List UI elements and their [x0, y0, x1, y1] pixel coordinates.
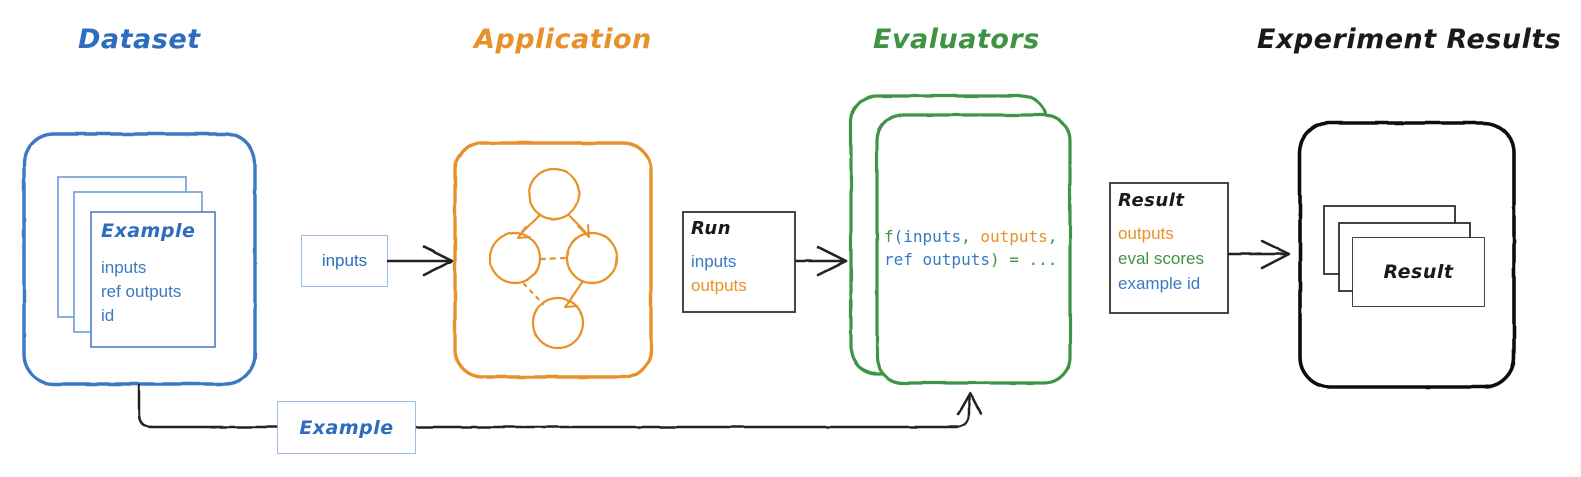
title-dataset: Dataset — [78, 24, 201, 55]
application-container — [455, 143, 651, 377]
result-to-experiment-arrow — [1229, 241, 1289, 268]
feedback-loop-path — [139, 385, 981, 427]
graph-node-left — [490, 233, 540, 283]
experiment-result-card-label: Result — [1353, 238, 1484, 306]
formula-open-paren: ( — [894, 227, 904, 246]
run-field-outputs: outputs — [691, 276, 747, 296]
formula-sep-2: , — [1048, 227, 1058, 246]
title-application: Application — [474, 24, 652, 55]
result-field-example-id: example id — [1118, 274, 1200, 294]
example-field-ref-outputs: ref outputs — [101, 282, 181, 302]
application-graph — [490, 169, 617, 348]
run-box-heading: Run — [691, 218, 731, 239]
evaluator-formula-line1: f(inputs, outputs, — [884, 227, 1057, 246]
formula-tail: ) = ... — [990, 250, 1057, 269]
example-field-inputs: inputs — [101, 258, 146, 278]
result-box-heading: Result — [1118, 190, 1184, 211]
formula-arg-ref-outputs: ref outputs — [884, 250, 990, 269]
run-field-inputs: inputs — [691, 252, 736, 272]
title-experiment-results: Experiment Results — [1257, 24, 1561, 55]
graph-node-right — [567, 233, 617, 283]
graph-node-top — [529, 169, 579, 219]
result-field-eval-scores: eval scores — [1118, 249, 1204, 269]
title-evaluators: Evaluators — [873, 24, 1040, 55]
example-field-id: id — [101, 306, 114, 326]
evaluator-formula-line2: ref outputs) = ... — [884, 250, 1057, 269]
run-to-evaluators-arrow — [796, 247, 846, 275]
result-field-outputs: outputs — [1118, 224, 1174, 244]
diagram-canvas — [0, 0, 1581, 477]
feedback-example-label: Example — [278, 402, 415, 453]
formula-arg-inputs: inputs — [903, 227, 961, 246]
formula-fn: f — [884, 227, 894, 246]
formula-sep-1: , — [961, 227, 980, 246]
formula-arg-outputs: outputs — [980, 227, 1047, 246]
inputs-to-application-arrow — [388, 247, 452, 275]
inputs-connector-label: inputs — [302, 236, 387, 286]
example-card-heading: Example — [101, 220, 195, 242]
evaluator-card-front — [877, 115, 1070, 383]
